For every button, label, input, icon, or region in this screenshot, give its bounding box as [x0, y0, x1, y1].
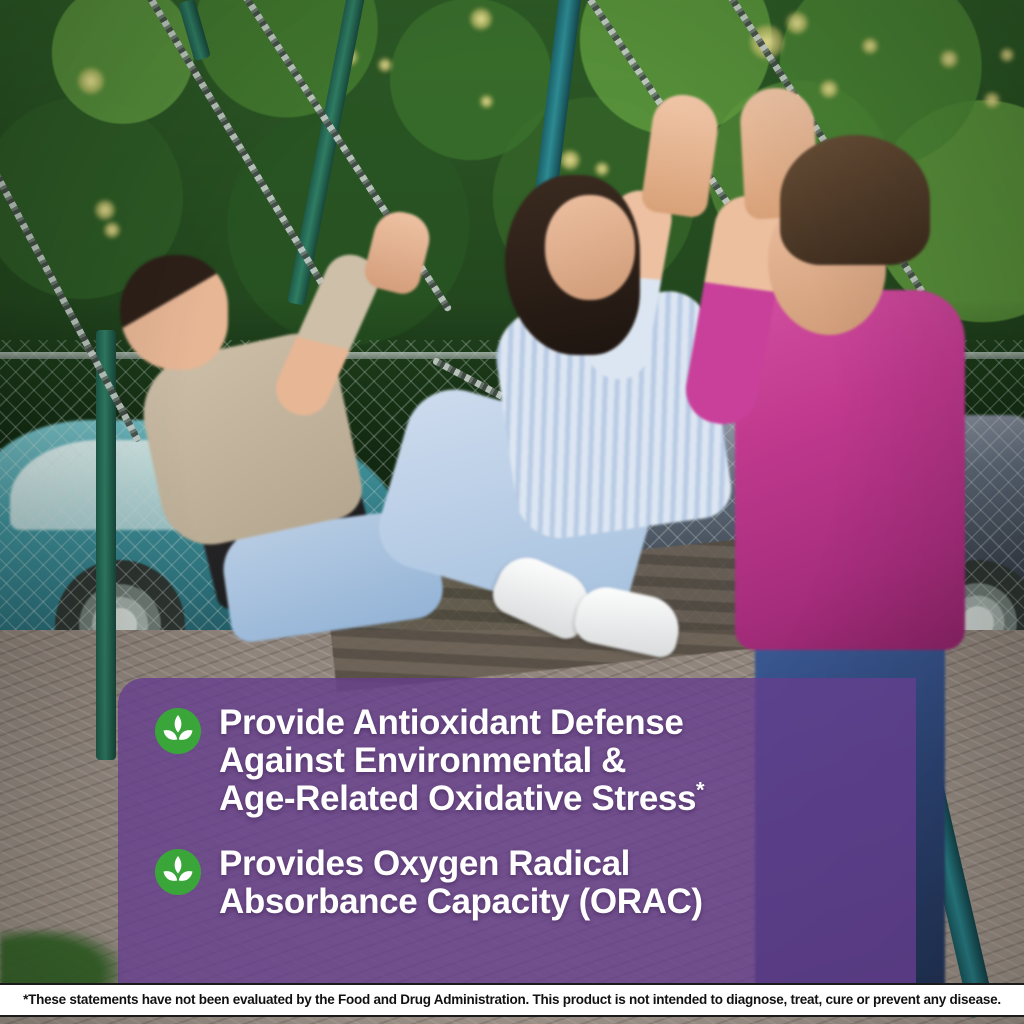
claims-panel: Provide Antioxidant Defense Against Envi… — [118, 678, 916, 983]
bokeh-light — [78, 68, 104, 94]
leaf-icon — [155, 708, 201, 754]
bokeh-light — [95, 200, 115, 220]
man-hair — [780, 135, 930, 265]
child-head — [120, 255, 228, 370]
bokeh-light — [595, 162, 609, 176]
man-hoodie — [735, 290, 965, 650]
footnote-marker: * — [696, 777, 704, 802]
bokeh-light — [104, 222, 120, 238]
leaf-icon — [155, 849, 201, 895]
disclaimer-text: *These statements have not been evaluate… — [10, 992, 1014, 1007]
claim-text: Provides Oxygen Radical Absorbance Capac… — [219, 845, 703, 921]
advertisement-image: Provide Antioxidant Defense Against Envi… — [0, 0, 1024, 1024]
claim-text: Provide Antioxidant Defense Against Envi… — [219, 704, 704, 818]
bokeh-light — [940, 50, 958, 68]
claim-item: Provides Oxygen Radical Absorbance Capac… — [155, 845, 894, 921]
woman-face — [545, 195, 635, 300]
bokeh-light — [470, 8, 492, 30]
bokeh-light — [862, 38, 878, 54]
bokeh-light — [480, 95, 493, 108]
bokeh-light — [1000, 48, 1014, 62]
bokeh-light — [786, 12, 808, 34]
bokeh-light — [378, 58, 392, 72]
claim-item: Provide Antioxidant Defense Against Envi… — [155, 704, 894, 818]
bokeh-light — [820, 80, 838, 98]
bokeh-light — [984, 92, 1000, 108]
disclaimer-bar: *These statements have not been evaluate… — [0, 983, 1024, 1017]
bokeh-light — [560, 150, 580, 170]
